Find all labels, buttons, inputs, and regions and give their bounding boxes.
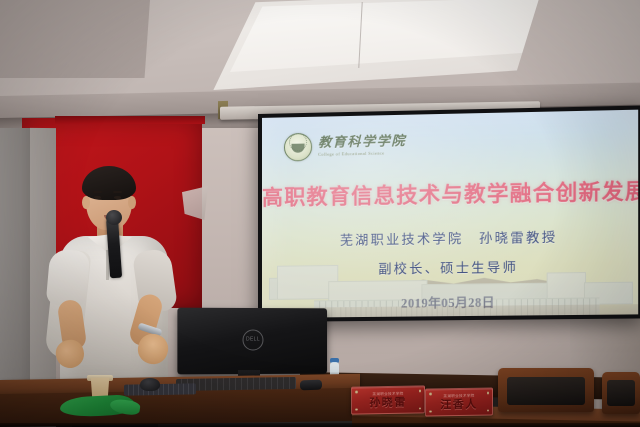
keyboard-secondary[interactable]	[124, 383, 196, 395]
conference-chair	[602, 372, 640, 414]
eyebrow-right	[113, 191, 122, 193]
university-seal-icon	[284, 133, 312, 162]
slide-subtitle-line1: 芜湖职业技术学院 孙晓雷教授	[262, 225, 638, 250]
speaker-hair	[82, 166, 136, 200]
ear-right	[128, 196, 136, 209]
dell-logo-icon: DELL	[243, 329, 264, 350]
conference-chair	[498, 368, 594, 412]
floor-shadow	[0, 423, 640, 427]
slide-title: 高职教育信息技术与教学融合创新发展	[262, 175, 638, 212]
presentation-slide: 教育科学学院 College of Educational Science 高职…	[262, 110, 638, 318]
lecture-hall-photo: 教育科学学院 College of Educational Science 高职…	[0, 0, 640, 427]
nameplate-name: 汪香人	[440, 399, 477, 412]
slide-logo: 教育科学学院 College of Educational Science	[284, 131, 406, 162]
remote-control[interactable]	[300, 380, 322, 391]
slide-logo-en: College of Educational Science	[318, 150, 406, 157]
eyebrow-left	[93, 191, 102, 193]
computer-mouse[interactable]	[140, 378, 160, 391]
ear-left	[82, 196, 90, 209]
nameplate-name: 孙晓雷	[369, 397, 406, 410]
speaker-sleeve-left	[46, 248, 91, 307]
slide-logo-cn: 教育科学学院	[318, 135, 406, 150]
chair-leather-pad	[507, 377, 585, 405]
projection-screen: 教育科学学院 College of Educational Science 高职…	[258, 105, 640, 322]
chair-leather-pad	[607, 380, 635, 406]
nameplate: 芜湖职业技术学院 汪香人	[425, 387, 493, 416]
dell-monitor: DELL	[177, 308, 327, 375]
red-banner-top-edge	[55, 116, 205, 124]
eye-right	[114, 196, 121, 199]
nameplate: 芜湖职业技术学院 孙晓雷	[351, 385, 425, 414]
ceiling-soffit-left	[0, 0, 150, 78]
eye-left	[94, 196, 101, 199]
